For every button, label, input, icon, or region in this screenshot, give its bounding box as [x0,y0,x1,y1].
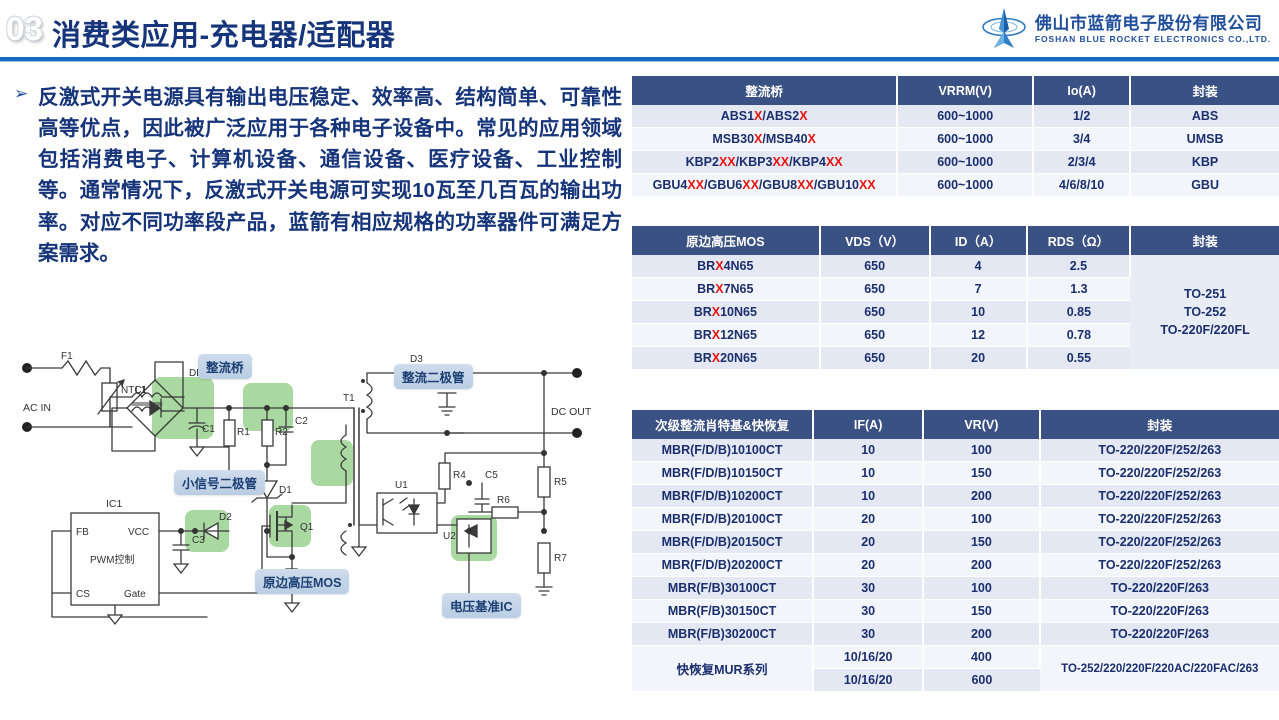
cell-part: BRX7N65 [632,278,820,301]
cell-part: MSB30X/MSB40X [632,128,897,151]
cell-package: TO-220/220F/252/263 [1040,462,1279,485]
net-ac-in: AC IN [23,402,51,414]
cell-package-merged: TO-251TO-252TO-220F/220FL [1130,255,1279,370]
cell-package: TO-220/220F/263 [1040,600,1279,623]
col-header-id: ID（A） [930,226,1027,255]
cell-vr: 200 [923,623,1039,646]
cell-id: 12 [930,324,1027,347]
col-header-vr: VR(V) [923,410,1039,439]
col-header-package: 封装 [1130,226,1279,255]
secondary-rectifier-table: 次级整流肖特基&快恢复 IF(A) VR(V) 封装 MBR(F/D/B)101… [632,410,1279,692]
cell-vr: 150 [923,531,1039,554]
table-header-row: 次级整流肖特基&快恢复 IF(A) VR(V) 封装 [632,410,1279,439]
ref-R5: R5 [554,477,567,488]
cell-part: KBP2XX/KBP3XX/KBP4XX [632,151,897,174]
col-header-secondary: 次级整流肖特基&快恢复 [632,410,813,439]
ref-D2: D2 [219,512,232,523]
cell-rds: 0.85 [1027,301,1131,324]
pin-gate: Gate [124,589,146,600]
ref-R2: R2 [275,427,288,438]
cell-part: MBR(F/D/B)20200CT [632,554,813,577]
primary-mos-table: 原边高压MOS VDS（V） ID（A） RDS（Ω） 封装 BRX4N65 6… [632,226,1279,370]
cell-part: MBR(F/B)30100CT [632,577,813,600]
cell-if: 20 [813,508,923,531]
circuit-svg: F1 NTC1 L1 L1 DB1 C1 R1 R2 C2 D1 D2 C3 Q… [14,335,624,665]
cell-id: 7 [930,278,1027,301]
cell-part: ABS1X/ABS2X [632,105,897,128]
slide-header: 03 消费类应用-充电器/适配器 佛山市蓝箭电子股份有限公司 FOSHAN BL… [0,0,1279,62]
ref-R1: R1 [237,427,250,438]
small-signal-diode-callout: 小信号二极管 [174,470,265,495]
bullet-arrow-icon: ➢ [14,82,38,269]
rectifier-bridge-table: 整流桥 VRRM(V) Io(A) 封装 ABS1X/ABS2X600~1000… [632,76,1279,197]
table-row: MBR(F/D/B)10150CT10150TO-220/220F/252/26… [632,462,1279,485]
cell-part-merged: 快恢复MUR系列 [632,646,813,692]
ref-F1: F1 [61,351,73,362]
table-row: KBP2XX/KBP3XX/KBP4XX600~10002/3/4KBP [632,151,1279,174]
cell-vr: 400 [923,646,1039,669]
cell-package: TO-220/220F/252/263 [1040,531,1279,554]
table-row: ABS1X/ABS2X600~10001/2ABS [632,105,1279,128]
flyback-circuit-diagram: F1 NTC1 L1 L1 DB1 C1 R1 R2 C2 D1 D2 C3 Q… [14,335,624,710]
cell-part: MBR(F/B)30150CT [632,600,813,623]
description-text: 反激式开关电源具有输出电压稳定、效率高、结构简单、可靠性高等优点，因此被广泛应用… [38,82,622,269]
cell-package: KBP [1130,151,1279,174]
col-header-mos: 原边高压MOS [632,226,820,255]
cell-vds: 650 [820,324,930,347]
cell-if: 10/16/20 [813,646,923,669]
cell-package: TO-220/220F/252/263 [1040,439,1279,462]
ref-C5: C5 [485,470,498,481]
cell-if: 10 [813,439,923,462]
cell-if: 20 [813,531,923,554]
col-header-rds: RDS（Ω） [1027,226,1131,255]
cell-package-merged: TO-252/220/220F/220AC/220FAC/263 [1040,646,1279,692]
table-row: MBR(F/B)30100CT30100TO-220/220F/263 [632,577,1279,600]
ref-D1: D1 [279,485,292,496]
rectifier-bridge-callout: 整流桥 [198,354,252,379]
description-block: ➢ 反激式开关电源具有输出电压稳定、效率高、结构简单、可靠性高等优点，因此被广泛… [14,82,622,269]
primary-hv-mos-callout: 原边高压MOS [255,569,349,594]
ref-C3: C3 [192,535,205,546]
cell-vr: 100 [923,439,1039,462]
col-header-bridge: 整流桥 [632,76,897,105]
pin-fb: FB [76,527,89,538]
cell-if: 10 [813,462,923,485]
col-header-vrrm: VRRM(V) [897,76,1033,105]
cell-package: TO-220/220F/252/263 [1040,485,1279,508]
cell-vr: 200 [923,485,1039,508]
cell-rds: 2.5 [1027,255,1131,278]
cell-if: 10 [813,485,923,508]
cell-vr: 150 [923,600,1039,623]
cell-vrrm: 600~1000 [897,151,1033,174]
cell-if: 30 [813,577,923,600]
cell-vds: 650 [820,347,930,370]
cell-vr: 100 [923,577,1039,600]
cell-part: BRX20N65 [632,347,820,370]
cell-part: BRX10N65 [632,301,820,324]
ref-R4: R4 [453,470,466,481]
table-row: MBR(F/D/B)20200CT20200TO-220/220F/252/26… [632,554,1279,577]
cell-vds: 650 [820,301,930,324]
table-row: MBR(F/D/B)10200CT10200TO-220/220F/252/26… [632,485,1279,508]
ref-C1: C1 [202,424,215,435]
ic-body-label: PWM控制 [90,553,134,566]
col-header-io: Io(A) [1033,76,1130,105]
ref-U2: U2 [443,531,456,542]
col-header-package: 封装 [1130,76,1279,105]
cell-io: 4/6/8/10 [1033,174,1130,197]
cell-package: ABS [1130,105,1279,128]
rectifier-diode-callout: 整流二极管 [394,364,473,389]
logo-company-en: FOSHAN BLUE ROCKET ELECTRONICS CO.,LTD. [1035,35,1271,44]
table-header-row: 原边高压MOS VDS（V） ID（A） RDS（Ω） 封装 [632,226,1279,255]
cell-package: GBU [1130,174,1279,197]
cell-vds: 650 [820,255,930,278]
cell-vr: 600 [923,669,1039,692]
cell-part: GBU4XX/GBU6XX/GBU8XX/GBU10XX [632,174,897,197]
cell-vr: 100 [923,508,1039,531]
cell-id: 20 [930,347,1027,370]
cell-io: 2/3/4 [1033,151,1130,174]
table-row: MBR(F/B)30200CT30200TO-220/220F/263 [632,623,1279,646]
col-header-vds: VDS（V） [820,226,930,255]
ref-T1: T1 [343,393,355,404]
cell-part: MBR(F/D/B)20100CT [632,508,813,531]
cell-package: UMSB [1130,128,1279,151]
table-row: MBR(F/D/B)10100CT10100TO-220/220F/252/26… [632,439,1279,462]
table-row: 快恢复MUR系列10/16/20400TO-252/220/220F/220AC… [632,646,1279,669]
pin-vcc: VCC [128,527,149,538]
cell-if: 30 [813,623,923,646]
ref-Q1: Q1 [300,522,314,533]
cell-vr: 150 [923,462,1039,485]
net-dc-out: DC OUT [551,406,592,418]
cell-if: 30 [813,600,923,623]
table-row: GBU4XX/GBU6XX/GBU8XX/GBU10XX600~10004/6/… [632,174,1279,197]
table-row: MBR(F/D/B)20100CT20100TO-220/220F/252/26… [632,508,1279,531]
ref-U1: U1 [395,480,408,491]
cell-if: 20 [813,554,923,577]
cell-vrrm: 600~1000 [897,105,1033,128]
cell-package: TO-220/220F/263 [1040,577,1279,600]
cell-part: MBR(F/D/B)10100CT [632,439,813,462]
cell-if: 10/16/20 [813,669,923,692]
cell-vrrm: 600~1000 [897,174,1033,197]
col-header-package: 封装 [1040,410,1279,439]
cell-package: TO-220/220F/252/263 [1040,508,1279,531]
cell-vrrm: 600~1000 [897,128,1033,151]
cell-part: BRX12N65 [632,324,820,347]
svg-text:L1: L1 [135,385,147,396]
cell-id: 10 [930,301,1027,324]
cell-io: 3/4 [1033,128,1130,151]
table-row: MSB30X/MSB40X600~10003/4UMSB [632,128,1279,151]
voltage-reference-ic-callout: 电压基准IC [442,593,521,618]
header-rule-light [0,61,1279,62]
cell-id: 4 [930,255,1027,278]
cell-part: MBR(F/D/B)10200CT [632,485,813,508]
cell-vds: 650 [820,278,930,301]
cell-rds: 0.55 [1027,347,1131,370]
cell-vr: 200 [923,554,1039,577]
cell-io: 1/2 [1033,105,1130,128]
table-header-row: 整流桥 VRRM(V) Io(A) 封装 [632,76,1279,105]
pin-cs: CS [76,589,90,600]
cell-part: MBR(F/B)30200CT [632,623,813,646]
section-number: 03 [6,10,43,48]
ref-R7: R7 [554,553,567,564]
table-row: MBR(F/B)30150CT30150TO-220/220F/263 [632,600,1279,623]
ref-IC1: IC1 [106,498,123,510]
cell-rds: 1.3 [1027,278,1131,301]
table-row: MBR(F/D/B)20150CT20150TO-220/220F/252/26… [632,531,1279,554]
ref-R6: R6 [497,495,510,506]
slide-root: 03 消费类应用-充电器/适配器 佛山市蓝箭电子股份有限公司 FOSHAN BL… [0,0,1279,720]
cell-part: BRX4N65 [632,255,820,278]
cell-part: MBR(F/D/B)20150CT [632,531,813,554]
cell-package: TO-220/220F/263 [1040,623,1279,646]
col-header-if: IF(A) [813,410,923,439]
table-row: BRX4N65 650 4 2.5 TO-251TO-252TO-220F/22… [632,255,1279,278]
company-logo: 佛山市蓝箭电子股份有限公司 FOSHAN BLUE ROCKET ELECTRO… [980,6,1271,52]
page-title: 消费类应用-充电器/适配器 [52,12,395,54]
cell-part: MBR(F/D/B)10150CT [632,462,813,485]
logo-company-cn: 佛山市蓝箭电子股份有限公司 [1035,15,1271,32]
rocket-logo-icon [980,7,1028,51]
ref-C2: C2 [295,416,308,427]
cell-rds: 0.78 [1027,324,1131,347]
cell-package: TO-220/220F/252/263 [1040,554,1279,577]
